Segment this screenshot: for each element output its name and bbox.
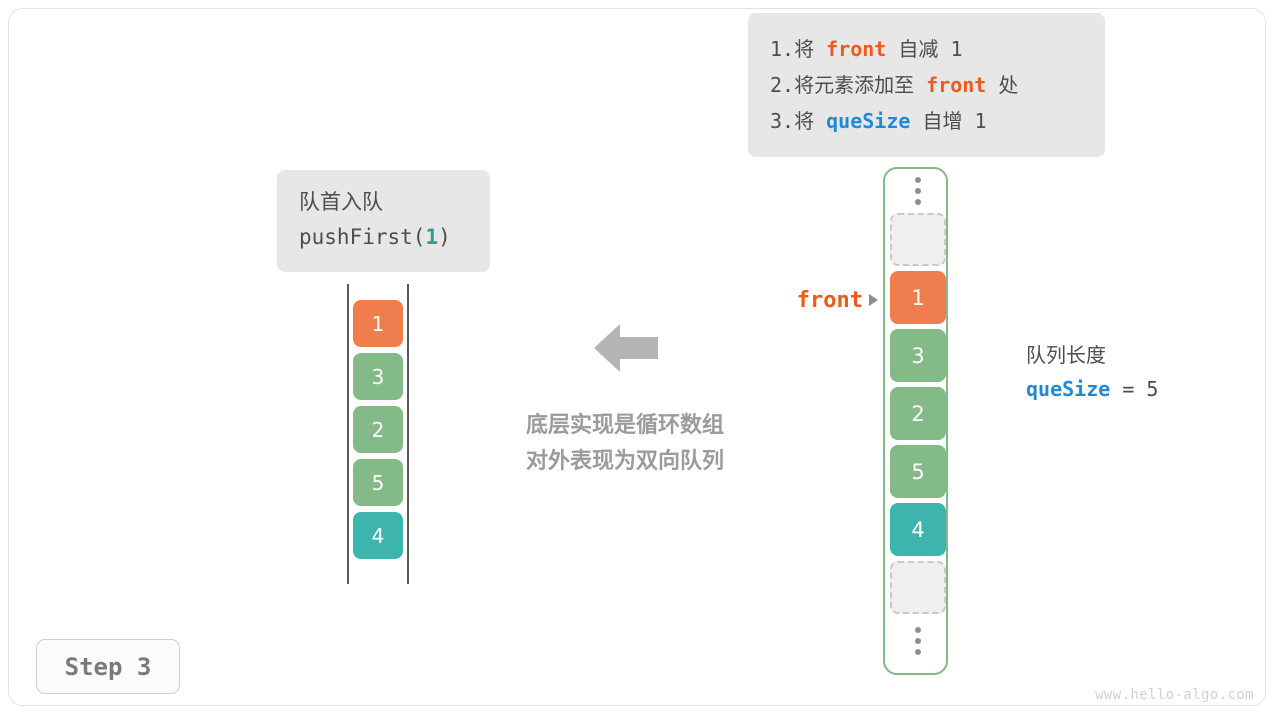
front-pointer: front <box>766 283 878 317</box>
instruction-3-index: 3. <box>770 109 794 133</box>
logical-cell: 5 <box>353 459 403 506</box>
circular-array-column: 1 3 2 5 4 <box>883 167 948 675</box>
operation-title: 队首入队 <box>299 186 468 220</box>
operation-code-prefix: pushFirst( <box>299 225 425 249</box>
instruction-box: 1.将 front 自减 1 2.将元素添加至 front 处 3.将 queS… <box>748 13 1105 157</box>
quesize-number: 5 <box>1146 377 1158 401</box>
logical-cell: 3 <box>353 353 403 400</box>
operation-code-suffix: ) <box>438 225 451 249</box>
instruction-2-post: 处 <box>986 73 1018 97</box>
instruction-1-index: 1. <box>770 37 794 61</box>
instruction-line-3: 3.将 queSize 自增 1 <box>770 103 1083 139</box>
array-cell: 1 <box>890 271 946 324</box>
quesize-block: 队列长度 queSize = 5 <box>1026 340 1256 406</box>
arrow-right-icon <box>869 294 878 306</box>
array-cell: 3 <box>890 329 946 382</box>
array-cell-empty <box>890 213 946 266</box>
array-cell: 5 <box>890 445 946 498</box>
instruction-3-post: 自增 1 <box>910 109 986 133</box>
operation-box: 队首入队 pushFirst(1) <box>277 170 490 272</box>
vertical-ellipsis-icon-bottom <box>890 619 946 663</box>
instruction-2-pre: 将元素添加至 <box>794 73 926 97</box>
diagram-canvas: 1.将 front 自减 1 2.将元素添加至 front 处 3.将 queS… <box>0 0 1280 720</box>
watermark: www.hello-algo.com <box>1095 687 1254 703</box>
center-note-line-2: 对外表现为双向队列 <box>470 443 780 479</box>
logical-cell: 1 <box>353 300 403 347</box>
quesize-name: queSize <box>1026 377 1110 401</box>
quesize-value: queSize = 5 <box>1026 372 1256 406</box>
ellipsis-dot <box>915 649 921 655</box>
center-note: 底层实现是循环数组 对外表现为双向队列 <box>470 407 780 479</box>
front-pointer-label: front <box>797 288 863 313</box>
center-note-line-1: 底层实现是循环数组 <box>470 407 780 443</box>
ellipsis-dot <box>915 638 921 644</box>
instruction-3-pre: 将 <box>794 109 826 133</box>
step-badge: Step 3 <box>36 639 180 694</box>
left-rail <box>347 284 349 584</box>
array-cell: 4 <box>890 503 946 556</box>
circular-array-cells: 1 3 2 5 4 <box>890 169 946 663</box>
array-cell-empty <box>890 561 946 614</box>
instruction-3-keyword: queSize <box>826 109 910 133</box>
instruction-1-pre: 将 <box>794 37 826 61</box>
logical-deque-column: 1 3 2 5 4 <box>347 284 409 584</box>
instruction-1-post: 自减 1 <box>886 37 962 61</box>
instruction-1-keyword: front <box>826 37 886 61</box>
transform-arrow-icon <box>594 322 658 374</box>
step-badge-label: Step 3 <box>65 653 152 681</box>
instruction-line-1: 1.将 front 自减 1 <box>770 31 1083 67</box>
instruction-2-keyword: front <box>926 73 986 97</box>
operation-code: pushFirst(1) <box>299 220 468 254</box>
right-rail <box>407 284 409 584</box>
ellipsis-dot <box>915 627 921 633</box>
logical-cell: 4 <box>353 512 403 559</box>
instruction-2-index: 2. <box>770 73 794 97</box>
operation-code-arg: 1 <box>425 225 438 249</box>
ellipsis-dot <box>915 177 921 183</box>
logical-deque-cells: 1 3 2 5 4 <box>353 300 403 565</box>
logical-cell: 2 <box>353 406 403 453</box>
quesize-title: 队列长度 <box>1026 340 1256 372</box>
quesize-equals: = <box>1110 377 1146 401</box>
ellipsis-dot <box>915 188 921 194</box>
ellipsis-dot <box>915 199 921 205</box>
instruction-line-2: 2.将元素添加至 front 处 <box>770 67 1083 103</box>
array-cell: 2 <box>890 387 946 440</box>
vertical-ellipsis-icon-top <box>890 169 946 213</box>
